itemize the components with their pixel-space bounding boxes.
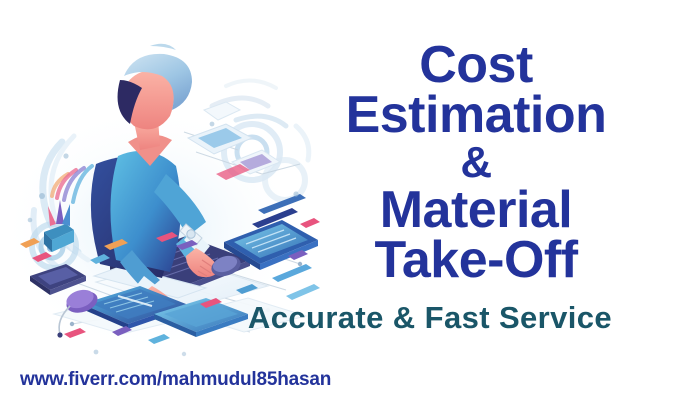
headline-line-2: Estimation — [300, 90, 652, 140]
headline-line-1: Cost — [300, 40, 652, 90]
subtitle-text: Accurate & Fast Service — [190, 300, 670, 336]
fiverr-profile-url[interactable]: www.fiverr.com/mahmudul85hasan — [20, 369, 331, 391]
headline-line-ampersand: & — [300, 141, 652, 185]
headline-line-3: Material — [300, 185, 652, 235]
banner-canvas: Cost Estimation & Material Take-Off Accu… — [0, 0, 680, 408]
headline-line-4: Take-Off — [300, 235, 652, 285]
headline-block: Cost Estimation & Material Take-Off — [300, 40, 652, 286]
